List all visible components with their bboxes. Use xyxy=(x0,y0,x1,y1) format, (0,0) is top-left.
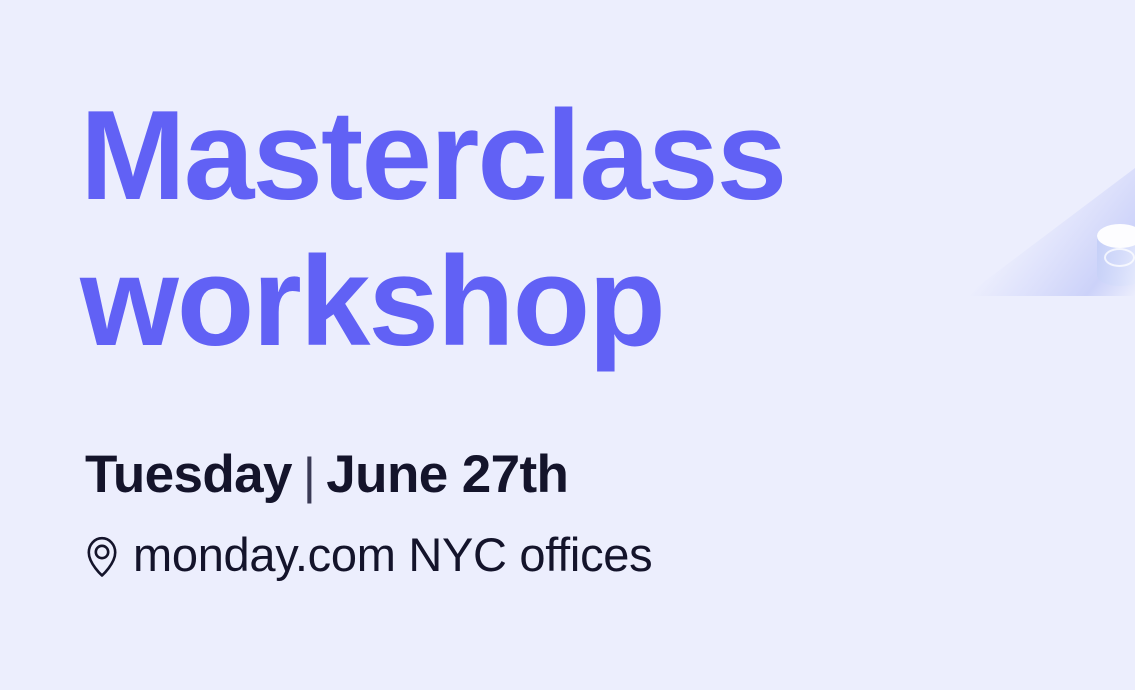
event-weekday: Tuesday xyxy=(85,444,292,506)
decorative-cylinder-shape xyxy=(1097,222,1135,294)
page-title-line-2: workshop xyxy=(80,228,785,374)
event-location-label: monday.com NYC offices xyxy=(133,524,652,586)
event-day-month: June 27th xyxy=(326,444,568,506)
date-separator: | xyxy=(303,445,315,507)
page-title: Masterclass workshop xyxy=(80,82,785,374)
decorative-gradient-band xyxy=(965,168,1135,296)
event-location: monday.com NYC offices xyxy=(85,524,652,586)
location-pin-icon xyxy=(85,534,119,578)
event-date: Tuesday | June 27th xyxy=(85,444,568,506)
decorative-cylinder-ring xyxy=(1104,248,1135,267)
event-poster: Masterclass workshop Tuesday | June 27th… xyxy=(0,0,1135,690)
poster-content: Masterclass workshop Tuesday | June 27th… xyxy=(85,0,985,690)
decorative-cylinder-body xyxy=(1097,236,1135,286)
decorative-cylinder-top xyxy=(1097,224,1135,248)
page-title-line-1: Masterclass xyxy=(80,82,785,228)
